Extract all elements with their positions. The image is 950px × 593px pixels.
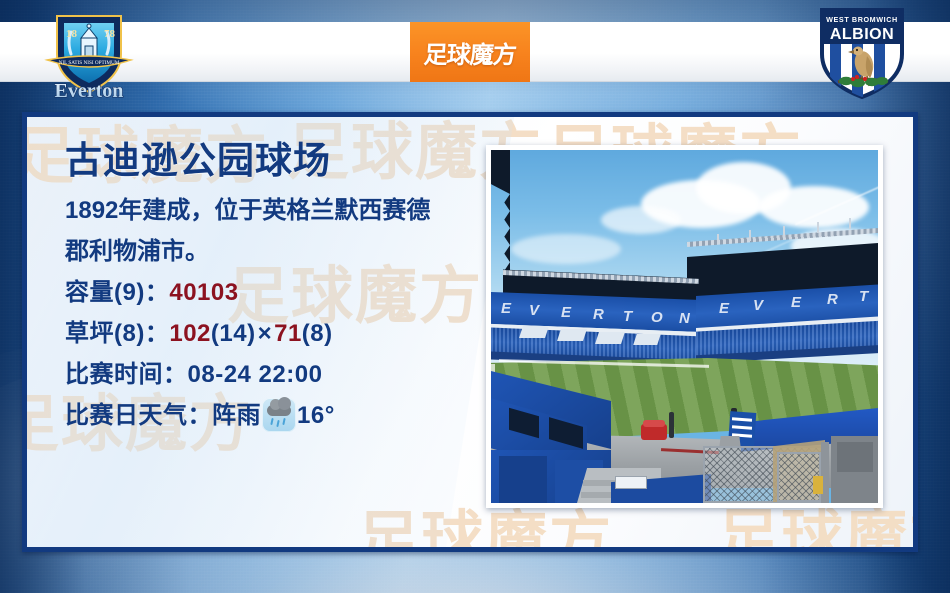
crest-year-right: 78 [104,28,116,40]
pitch-size-separator: ： [145,320,170,347]
pitch-size-row: 草坪(8)：102(14)×71(8) [65,313,465,354]
weather-separator: ： [188,402,213,429]
pitch-width-value: 71 [274,320,302,347]
crest-line-1: WEST BROMWICH [826,15,898,24]
pitch-size-label: 草坪(8) [65,320,145,347]
match-time-separator: ： [163,361,188,388]
match-time-label: 比赛时间 [65,361,163,388]
match-weather-row: 比赛日天气：阵雨16° [65,395,465,436]
stadium-info-block: 古迪逊公园球场 1892年建成，位于英格兰默西赛德郡利物浦市。 容量(9)：40… [65,141,465,436]
crest-year-left: 18 [66,28,78,40]
match-time-value: 08-24 22:00 [188,361,323,388]
crest-wordmark: Everton [55,80,124,102]
pitch-width-rank: (8) [302,320,333,347]
crest-line-2: ALBION [830,26,894,43]
shower-rain-icon [262,398,296,432]
stadium-info-panel: 足球魔方 足球魔方 足球魔方 足球魔方 足球魔方 足球魔方 足球魔方 古迪逊公园… [22,112,918,552]
dimension-times-symbol: × [256,320,275,347]
match-time-row: 比赛时间：08-24 22:00 [65,354,465,395]
capacity-label: 容量(9) [65,279,145,306]
capacity-value: 40103 [169,279,238,306]
capacity-separator: ： [145,279,170,306]
site-logo-text: 足球魔方 [423,35,517,70]
west-bromwich-albion-crest: WEST BROMWICH ALBION [812,2,912,102]
site-logo-badge[interactable]: 足球魔方 [410,22,530,82]
weather-condition: 阵雨 [212,402,261,429]
crest-motto: NIL SATIS NISI OPTIMUM [59,60,120,66]
everton-crest: 18 78 NIL SATIS NISI OPTIMUM Everton [33,4,145,102]
capacity-row: 容量(9)：40103 [65,272,465,313]
pitch-length-value: 102 [169,320,211,347]
stadium-photo: E V E R T O N E V E R T [491,150,878,503]
stadium-description: 1892年建成，位于英格兰默西赛德郡利物浦市。 [65,190,440,272]
stadium-title: 古迪逊公园球场 [65,141,465,182]
stadium-photo-frame: E V E R T O N E V E R T [486,145,883,508]
weather-label: 比赛日天气 [65,402,188,429]
pitch-length-rank: (14) [211,320,256,347]
weather-temperature: 16° [297,402,335,429]
